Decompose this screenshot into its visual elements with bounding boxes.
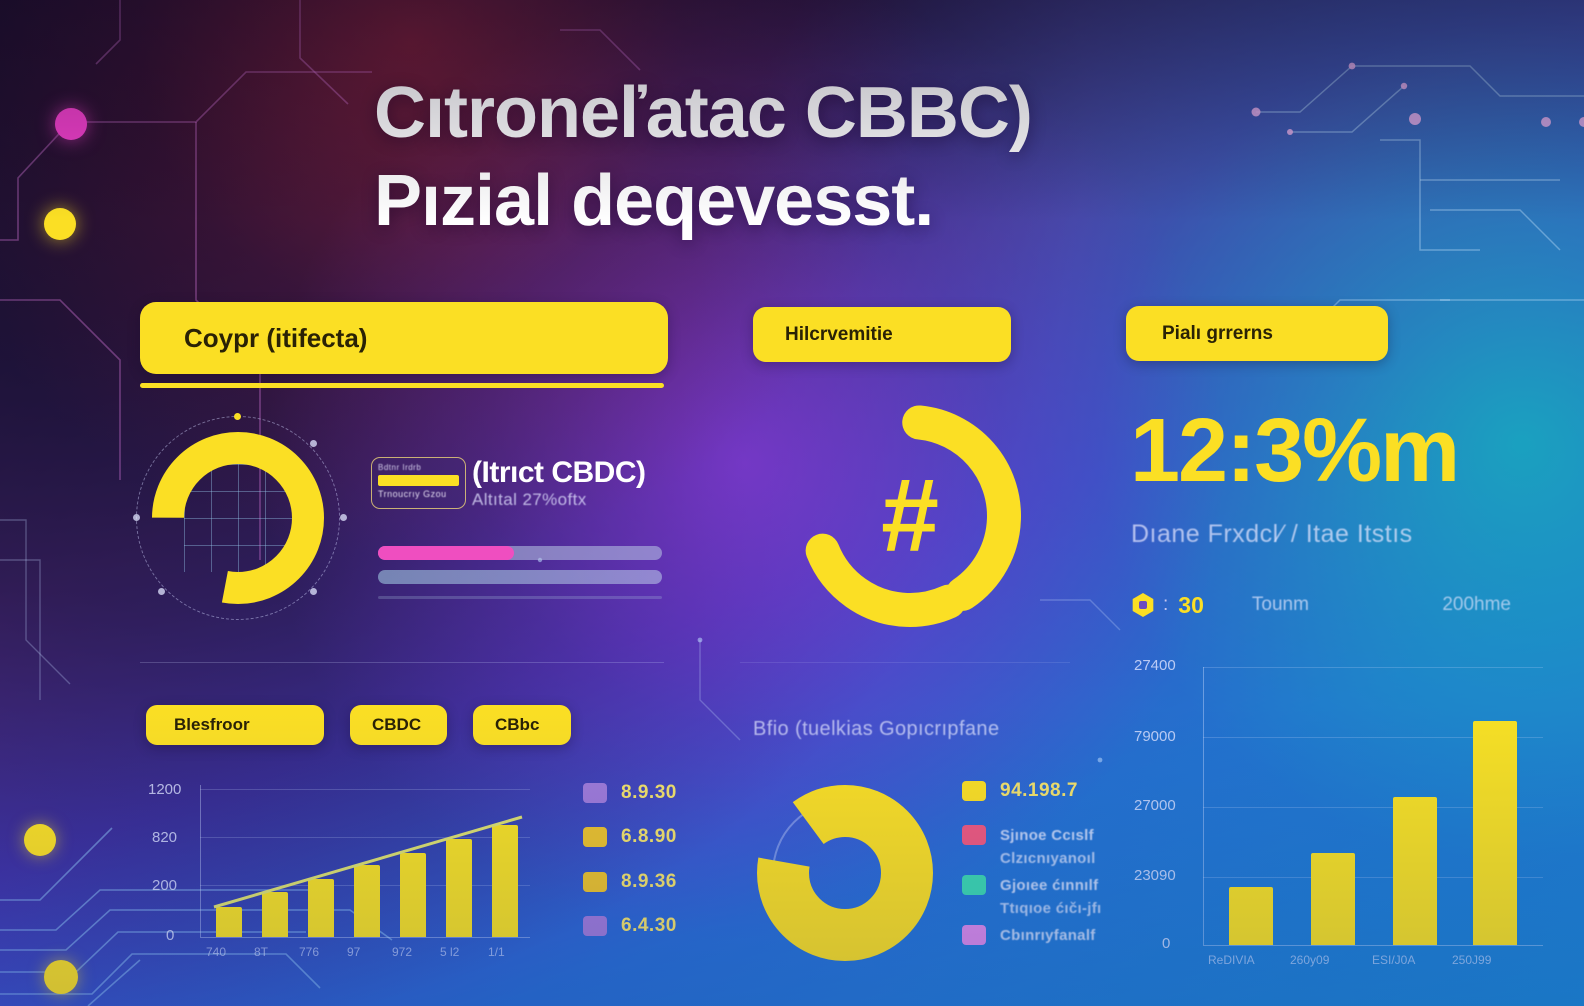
tab-hilcrvemitie[interactable]: Hilcrvemitie xyxy=(753,307,1011,362)
legend-label: Sjınoe Ccıslf xyxy=(1000,827,1094,844)
middle-donut-chart xyxy=(750,778,940,968)
left-card-title: (Itrıct CBDC) xyxy=(472,456,646,490)
left-chart-legend-item: 8.9.30 xyxy=(583,782,677,804)
dashboard-stage: Cıtroneľatac CBBC) Pızial deqevesst. Coy… xyxy=(0,0,1584,1006)
legend-label: Cbınrıyfanalf xyxy=(1000,927,1096,944)
legend-label: Gjoıee ćınnılf xyxy=(1000,877,1098,894)
left-chart-xtick-3: 97 xyxy=(347,945,360,959)
right-big-value: 12:3%m xyxy=(1130,406,1458,496)
left-chart-xtick-1: 8T xyxy=(254,945,268,959)
legend-label: Clzıcnıyanoıl xyxy=(1000,850,1096,867)
left-mini-card: Bdtnr Irdrb Trnoucrıy Gzou xyxy=(371,457,466,509)
left-chart-xtick-0: 740 xyxy=(206,945,226,959)
left-chart-legend-item: 6.4.30 xyxy=(583,915,677,937)
right-chart-ytick-1: 79000 xyxy=(1134,728,1176,745)
page-title: Cıtroneľatac CBBC) Pızial deqevesst. xyxy=(374,70,1374,246)
left-chart-xtick-6: 1/1 xyxy=(488,945,505,959)
chip-blesfroor[interactable]: Blesfroor xyxy=(146,705,324,745)
legend-swatch xyxy=(962,781,986,801)
left-chart-xtick-5: 5 l2 xyxy=(440,945,459,959)
legend-label: 8.9.36 xyxy=(621,871,677,893)
left-chart-ytick-0: 1200 xyxy=(148,781,181,798)
tab-piali-grrerns[interactable]: Pialı grrerns xyxy=(1126,306,1388,361)
left-chart-xtick-2: 776 xyxy=(299,945,319,959)
legend-swatch xyxy=(583,916,607,936)
legend-label: Ttıqıoe ćıčı-jfı xyxy=(1000,900,1101,917)
title-line-1: Cıtroneľatac CBBC) xyxy=(374,70,1374,158)
legend-swatch xyxy=(583,783,607,803)
bar xyxy=(1473,721,1517,945)
progress-bar-1-track[interactable] xyxy=(378,546,662,560)
right-chart-xtick-2: ESI/J0A xyxy=(1372,953,1415,967)
right-stat-row: : 30 Tounm 200hme xyxy=(1131,590,1511,620)
mini-card-bottom-text: Trnoucrıy Gzou xyxy=(378,489,459,499)
decorative-dot-yellow-top xyxy=(44,208,76,240)
right-chart-ytick-4: 0 xyxy=(1162,935,1170,952)
right-chart-xtick-3: 250J99 xyxy=(1452,953,1491,967)
legend-label: 6.8.90 xyxy=(621,826,677,848)
progress-bar-3-track xyxy=(378,596,662,599)
ring-node-right xyxy=(340,514,347,521)
right-chart-xtick-0: ReDIVIA xyxy=(1208,953,1255,967)
middle-legend-item: Gjoıee ćınnılf xyxy=(962,875,1098,895)
left-chart-x-axis xyxy=(200,937,530,938)
chip-cbbc[interactable]: CBbc xyxy=(473,705,571,745)
legend-label: 6.4.30 xyxy=(621,915,677,937)
mini-card-top-text: Bdtnr Irdrb xyxy=(378,463,459,472)
right-sub-label: Dıane Frxdcl⁄ / Itae Itstıs xyxy=(1131,520,1413,549)
stat-label-right: 200hme xyxy=(1442,594,1511,616)
legend-label: 8.9.30 xyxy=(621,782,677,804)
right-chart-x-axis xyxy=(1203,945,1543,946)
decorative-dot-yellow-left xyxy=(24,824,56,856)
mini-card-bar xyxy=(378,475,459,486)
left-chart-ytick-1: 820 xyxy=(152,829,177,846)
tab-coypr[interactable]: Coypr (itifecta) xyxy=(140,302,668,374)
legend-swatch xyxy=(962,875,986,895)
left-donut-widget xyxy=(148,428,328,608)
middle-panel-divider xyxy=(740,662,1070,663)
legend-swatch xyxy=(583,827,607,847)
left-chart-ytick-3: 0 xyxy=(166,927,174,944)
progress-bar-1-fill xyxy=(378,546,514,560)
stat-value: 30 xyxy=(1178,592,1204,619)
right-bar-chart: 27400 79000 27000 23090 0 ReDIVIA 260y09… xyxy=(1120,645,1550,985)
middle-panel-title: Bfio (tuelkias Gopıcrıpfane xyxy=(753,718,999,741)
ring-node-top xyxy=(234,413,241,420)
progress-bar-2-track[interactable] xyxy=(378,570,662,584)
bar xyxy=(1229,887,1273,945)
middle-legend-item: Clzıcnıyanoıl xyxy=(1000,850,1096,867)
decorative-dot-magenta xyxy=(55,108,87,140)
left-chart-ytick-2: 200 xyxy=(152,877,177,894)
middle-legend-item: Cbınrıyfanalf xyxy=(962,925,1096,945)
left-donut-chart xyxy=(148,428,328,608)
middle-legend-item: Ttıqıoe ćıčı-jfı xyxy=(1000,900,1101,917)
stat-label-mid: Tounm xyxy=(1252,594,1309,616)
chip-cbdc[interactable]: CBDC xyxy=(350,705,447,745)
stat-separator: : xyxy=(1163,594,1168,616)
tab-active-underline xyxy=(140,383,664,388)
legend-swatch xyxy=(583,872,607,892)
right-chart-xtick-1: 260y09 xyxy=(1290,953,1329,967)
bar xyxy=(1311,853,1355,945)
left-chart-legend-item: 6.8.90 xyxy=(583,826,677,848)
legend-swatch xyxy=(962,825,986,845)
legend-swatch xyxy=(962,925,986,945)
middle-legend-item: 94.198.7 xyxy=(962,780,1078,802)
left-chart-xtick-4: 972 xyxy=(392,945,412,959)
right-chart-ytick-3: 23090 xyxy=(1134,867,1176,884)
title-line-2: Pızial deqevesst. xyxy=(374,158,1374,246)
middle-legend-item: Sjınoe Ccıslf xyxy=(962,825,1094,845)
ring-node-left xyxy=(133,514,140,521)
right-chart-ytick-0: 27400 xyxy=(1134,657,1176,674)
decorative-dot-yellow-bottom xyxy=(44,960,78,994)
hash-icon: # xyxy=(790,396,1030,636)
trendline xyxy=(200,785,530,937)
bar xyxy=(1393,797,1437,945)
left-panel-divider xyxy=(140,662,664,663)
legend-label: 94.198.7 xyxy=(1000,780,1078,802)
right-chart-ytick-2: 27000 xyxy=(1134,797,1176,814)
left-chart-legend-item: 8.9.36 xyxy=(583,871,677,893)
hash-donut-widget: # xyxy=(790,396,1030,636)
left-card-subtitle: Altıtal 27%oftx xyxy=(472,490,587,510)
hexagon-icon xyxy=(1131,593,1155,617)
